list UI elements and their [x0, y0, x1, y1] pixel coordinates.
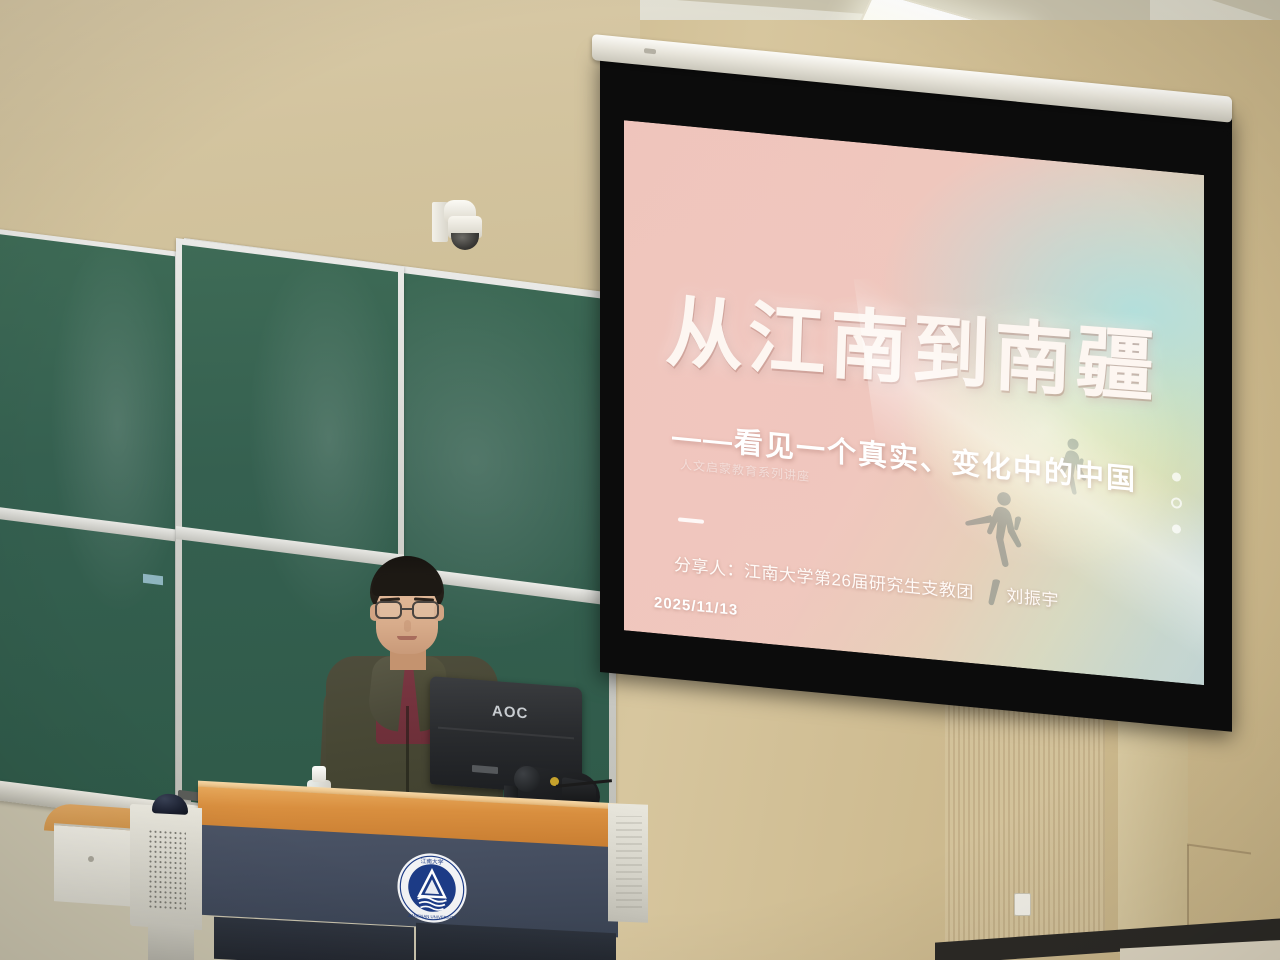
roller-nub: [644, 48, 656, 54]
security-camera-icon: [432, 196, 492, 258]
blackboard-panel-left: [0, 228, 180, 812]
presenter-name: 刘振宇: [1006, 586, 1059, 610]
camera-dome: [451, 233, 479, 250]
projected-slide-area: 从江南到南疆 ——看见一个真实、变化中的中国 人文启蒙教育系列讲座 分享人：江南…: [624, 120, 1204, 685]
door-seam: [1187, 845, 1189, 930]
podium-leg: [148, 923, 194, 960]
slide-decorative-dots: [1171, 472, 1182, 534]
podium-drawer[interactable]: [54, 823, 136, 907]
person-nose: [404, 620, 411, 632]
bottle-cap: [312, 766, 326, 782]
presentation-slide: 从江南到南疆 ——看见一个真实、变化中的中国 人文启蒙教育系列讲座 分享人：江南…: [624, 120, 1204, 685]
monitor-brand-logo: AOC: [492, 703, 528, 723]
lecture-hall-photo: 从江南到南疆 ——看见一个真实、变化中的中国 人文启蒙教育系列讲座 分享人：江南…: [0, 0, 1280, 960]
wall-switch[interactable]: [1014, 893, 1031, 916]
person-hair-fringe: [372, 574, 442, 596]
glasses-lens-right: [412, 601, 439, 619]
podium-side-instructions: [616, 816, 642, 908]
podium-speaker-grille: [148, 829, 186, 911]
eyeglasses-icon: [373, 601, 443, 621]
dot: [1172, 472, 1181, 482]
dot: [1172, 524, 1181, 534]
slide-divider-dash: [678, 517, 704, 523]
projector-screen: 从江南到南疆 ——看见一个真实、变化中的中国 人文启蒙教育系列讲座 分享人：江南…: [600, 52, 1232, 732]
monitor-mount-joint[interactable]: [514, 766, 540, 792]
person-mouth: [397, 636, 417, 640]
glasses-bridge: [402, 608, 412, 610]
lectern-podium: 江南大学 JIANGNAN UNIVERSITY: [130, 790, 640, 960]
slide-date: 2025/11/13: [654, 594, 738, 619]
podium-dome-fixture: [152, 793, 188, 815]
jiangnan-university-emblem-icon: 江南大学 JIANGNAN UNIVERSITY: [396, 850, 468, 926]
dot-ring: [1171, 497, 1182, 509]
podium-drawer-lock[interactable]: [88, 856, 94, 862]
glasses-lens-left: [375, 601, 402, 619]
